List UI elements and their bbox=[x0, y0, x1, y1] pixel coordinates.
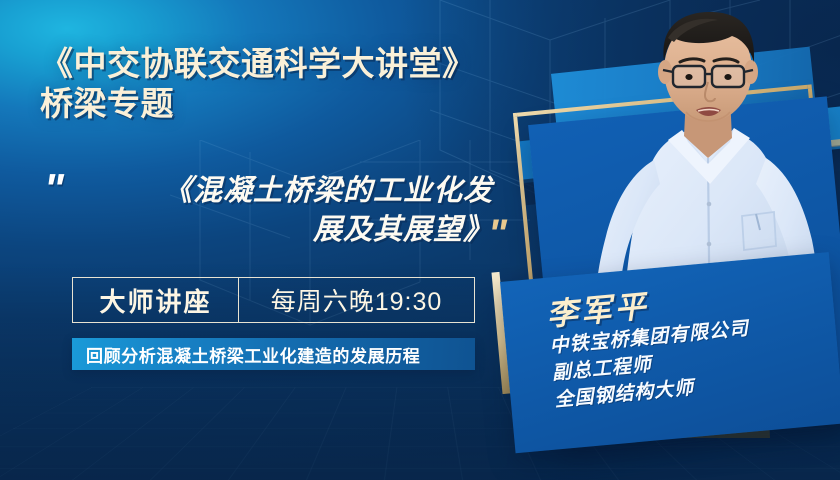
quote-open-icon: " bbox=[44, 168, 61, 210]
lecture-strapline: 回顾分析混凝土桥梁工业化建造的发展历程 bbox=[72, 338, 475, 370]
quote-close-icon: " bbox=[488, 214, 504, 254]
poster-subtitle: 《混凝土桥梁的工业化发 展及其展望》 bbox=[78, 172, 493, 250]
poster-title: 《中交协联交通科学大讲堂》 桥梁专题 bbox=[40, 44, 540, 124]
lecture-info-box: 大师讲座 每周六晚19:30 bbox=[72, 277, 475, 323]
title-line-2: 桥梁专题 bbox=[40, 84, 540, 124]
poster-canvas: 《中交协联交通科学大讲堂》 桥梁专题 " 《混凝土桥梁的工业化发 展及其展望》 … bbox=[0, 0, 840, 480]
subtitle-line-2: 展及其展望》 bbox=[78, 211, 493, 250]
lecture-schedule-label: 每周六晚19:30 bbox=[239, 278, 474, 322]
lecture-type-label: 大师讲座 bbox=[73, 278, 239, 322]
speaker-card-content: 李军平 中铁宝桥集团有限公司 副总工程师 全国钢结构大师 bbox=[508, 257, 840, 451]
title-line-1: 《中交协联交通科学大讲堂》 bbox=[40, 44, 540, 84]
subtitle-line-1: 《混凝土桥梁的工业化发 bbox=[78, 172, 493, 211]
